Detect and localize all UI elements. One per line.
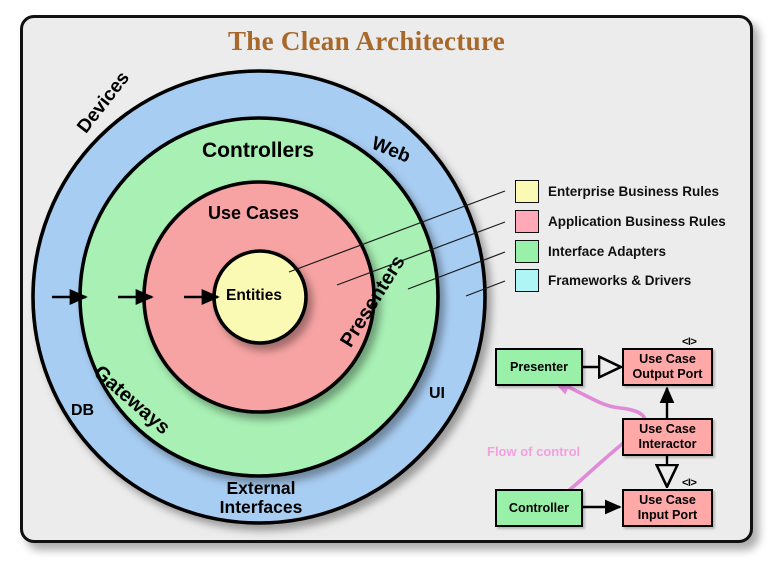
uml-box-output-port-line-2: Output Port: [633, 367, 703, 381]
uml-box-output-port-line-1: Use Case: [639, 352, 696, 366]
uml-box-input-port-line-1: Use Case: [639, 493, 696, 507]
uml-box-input-port-line-2: Input Port: [638, 508, 697, 522]
uml-box-use-case-interactor[interactable]: Use Case Interactor: [622, 418, 713, 456]
uml-box-controller[interactable]: Controller: [495, 489, 583, 527]
uml-box-use-case-input-port[interactable]: Use Case Input Port: [622, 489, 713, 527]
uml-box-presenter[interactable]: Presenter: [495, 348, 583, 386]
uml-box-controller-label: Controller: [509, 501, 569, 516]
uml-connectors-layer: Output Port (solid arrow up) --> Input P…: [0, 0, 772, 567]
flow-of-control-label: Flow of control: [487, 444, 580, 459]
uml-box-interactor-line-1: Use Case: [639, 422, 696, 436]
uml-box-interactor-line-2: Interactor: [638, 437, 696, 451]
uml-box-presenter-label: Presenter: [510, 360, 568, 375]
interface-tag-output-port: <I>: [682, 336, 696, 348]
clean-architecture-diagram: The Clean Architecture: [0, 0, 772, 567]
interface-tag-input-port: <I>: [682, 477, 696, 489]
uml-box-use-case-output-port[interactable]: Use Case Output Port: [622, 348, 713, 386]
